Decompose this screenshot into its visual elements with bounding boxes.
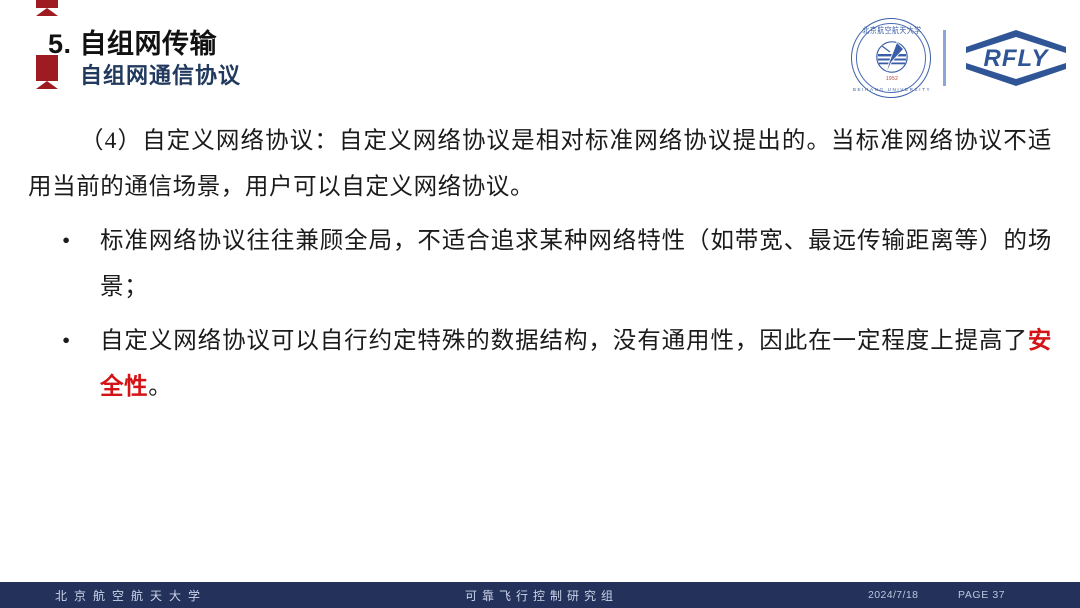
list-item: • 自定义网络协议可以自行约定特殊的数据结构，没有通用性，因此在一定程度上提高了… <box>0 318 1080 410</box>
slide-header: 5. 自组网传输 自组网通信协议 北京航空航天大学 1952 BEIHANG U… <box>0 0 1080 112</box>
footer-research-group: 可靠飞行控制研究组 <box>465 587 618 604</box>
slide-body: （4）自定义网络协议：自定义网络协议是相对标准网络协议提出的。当标准网络协议不适… <box>0 118 1080 410</box>
seal-english-text: BEIHANG UNIVERSITY <box>852 87 932 92</box>
ribbon-marker-top <box>36 0 58 16</box>
slide-footer: 北京航空航天大学 可靠飞行控制研究组 2024/7/18 PAGE 37 <box>0 582 1080 608</box>
intro-paragraph: （4）自定义网络协议：自定义网络协议是相对标准网络协议提出的。当标准网络协议不适… <box>0 118 1080 210</box>
page-title: 5. 自组网传输 <box>48 22 217 61</box>
list-item: • 标准网络协议往往兼顾全局，不适合追求某种网络特性（如带宽、最远传输距离等）的… <box>0 218 1080 310</box>
logo-divider <box>943 30 946 86</box>
list-item-text-plain: 自定义网络协议可以自行约定特殊的数据结构，没有通用性，因此在一定程度上提高了 <box>100 328 1028 354</box>
bullet-marker: • <box>62 218 100 264</box>
rfly-logo-icon: RFLY <box>960 27 1072 89</box>
slide-canvas: 5. 自组网传输 自组网通信协议 北京航空航天大学 1952 BEIHANG U… <box>0 0 1080 608</box>
list-item-text: 标准网络协议往往兼顾全局，不适合追求某种网络特性（如带宽、最远传输距离等）的场景… <box>100 218 1052 310</box>
page-subtitle: 自组网通信协议 <box>80 58 241 90</box>
rfly-wordmark: RFLY <box>984 45 1050 72</box>
seal-emblem-icon <box>870 41 914 75</box>
beihang-university-seal-icon: 北京航空航天大学 1952 BEIHANG UNIVERSITY <box>851 18 931 98</box>
footer-date: 2024/7/18 <box>868 589 918 601</box>
list-item-text: 自定义网络协议可以自行约定特殊的数据结构，没有通用性，因此在一定程度上提高了安全… <box>100 318 1052 410</box>
footer-university: 北京航空航天大学 <box>55 587 207 604</box>
list-item-text-tail: 。 <box>148 374 172 400</box>
seal-year: 1952 <box>852 76 932 82</box>
logo-area: 北京航空航天大学 1952 BEIHANG UNIVERSITY <box>851 18 1072 98</box>
bullet-marker: • <box>62 318 100 364</box>
seal-chinese-text: 北京航空航天大学 <box>852 26 932 37</box>
footer-page-number: PAGE 37 <box>958 589 1005 601</box>
